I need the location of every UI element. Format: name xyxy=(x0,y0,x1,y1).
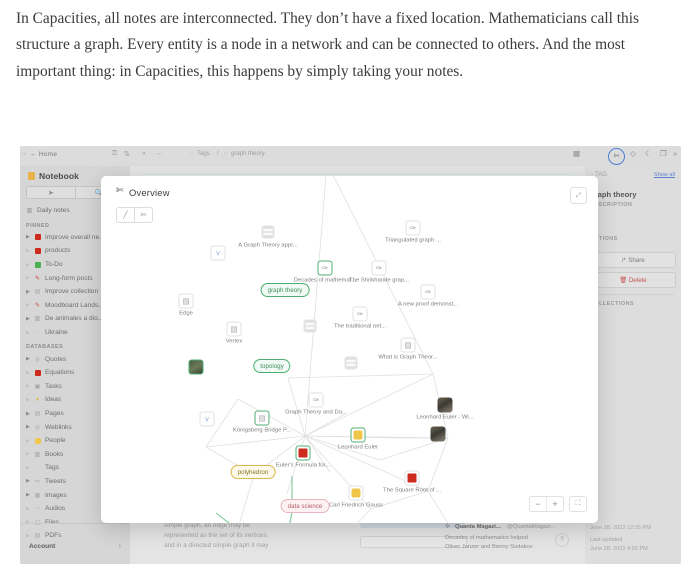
panel-updated-date: June 28, 2022 4:55 PM xyxy=(590,545,648,554)
sort-icon[interactable]: ⇅ xyxy=(124,150,130,158)
image-icon: ▦ xyxy=(34,492,41,499)
expand-icon[interactable]: ⤢ xyxy=(570,187,587,204)
chevron-right-icon[interactable]: ▶ xyxy=(26,383,34,389)
filter-node-box: ⋎ xyxy=(200,412,215,427)
tweet-node-box: ✑ xyxy=(309,393,324,408)
account-label: Account xyxy=(29,543,55,550)
chevron-right-icon[interactable]: ▶ xyxy=(26,370,34,376)
graph-node[interactable] xyxy=(345,357,358,370)
zoom-out-button[interactable]: − xyxy=(530,497,546,511)
grid-node-box xyxy=(345,357,358,370)
graph-canvas[interactable]: A Graph Theory appr...✑Triangulated grap… xyxy=(101,176,598,523)
tweet-line-1: Decades of mathematics helped xyxy=(445,535,528,541)
graph-node-label: Leonhard Euler xyxy=(338,445,378,451)
sidebar-item-label: Improve collection xyxy=(45,288,98,295)
sidebar-item-label: Ideas xyxy=(45,396,61,403)
tag-icon: ◌ xyxy=(34,329,41,336)
person-icon xyxy=(352,489,361,498)
chevron-right-icon[interactable]: ▶ xyxy=(26,262,34,268)
graph-edges xyxy=(101,176,598,523)
graph-node-label: The traditional net... xyxy=(334,324,386,330)
graph-node-label: The Square Root of ... xyxy=(383,488,441,494)
app-screenshot: ← Home ⚿ ⇅ « ← → ◌ Tags / ◌ graph theory… xyxy=(20,146,681,564)
chevron-right-icon[interactable]: ▶ xyxy=(26,248,34,254)
grid-node-box xyxy=(304,320,317,333)
panel-divider xyxy=(590,294,674,295)
graph-node[interactable]: ✑Graph Theory and Da... xyxy=(309,393,324,408)
page-node-box: ▤ xyxy=(227,322,242,337)
graph-node-label: Graph Theory and Da... xyxy=(285,410,347,416)
account-button[interactable]: Account › xyxy=(20,538,130,554)
graph-tag-node[interactable]: topology xyxy=(253,359,290,373)
tag-icon: ◌ xyxy=(34,464,41,471)
book-node-box xyxy=(405,471,420,486)
graph-node[interactable]: Leonhard Euler xyxy=(351,428,366,443)
graph-node-label: Königsberg Bridge P... xyxy=(233,428,291,434)
breadcrumb-tags-label[interactable]: Tags xyxy=(197,151,210,157)
person-icon xyxy=(354,431,363,440)
graph-node[interactable]: ⋎ xyxy=(200,412,215,427)
person-node-box xyxy=(349,486,364,501)
page-icon: ▤ xyxy=(34,288,41,295)
graph-overview-icon: ✄ xyxy=(116,185,124,196)
back-arrow-icon[interactable]: ← xyxy=(156,150,163,157)
chevron-right-icon[interactable]: ▶ xyxy=(26,330,34,336)
sidebar-item-label: Quotes xyxy=(45,356,66,363)
modal-title: Overview xyxy=(129,187,170,198)
chevron-right-filled-icon[interactable]: ▶ xyxy=(26,356,34,362)
notebook-icon xyxy=(28,172,35,180)
sidebar-item-label: Books xyxy=(45,451,63,458)
pin-red-icon: ✎ xyxy=(34,275,41,282)
graph-node[interactable]: ▤Königsberg Bridge P... xyxy=(255,411,270,426)
globe-icon: ◎ xyxy=(34,424,41,431)
panel-updated-label: Last updated xyxy=(590,536,622,545)
breadcrumb-separator: / xyxy=(217,151,219,157)
sidebar-item-label: Equations xyxy=(45,369,74,376)
grid-icon xyxy=(305,321,316,332)
sidebar-item-label: Weblinks xyxy=(45,424,72,431)
app-topbar: ← Home ⚿ ⇅ « ← → ◌ Tags / ◌ graph theory… xyxy=(20,146,681,166)
document-line-3: and in a directed simple graph it may xyxy=(164,541,354,551)
graph-node[interactable]: ▤Vertex xyxy=(227,322,242,337)
graph-icon[interactable]: ✄ xyxy=(135,207,153,223)
graph-overview-icon[interactable]: ✄ xyxy=(608,148,625,165)
calendar-icon[interactable]: ▦ xyxy=(573,149,580,158)
show-all-link[interactable]: Show all xyxy=(654,172,675,178)
chevron-right-filled-icon[interactable]: ▶ xyxy=(26,424,34,430)
copy-icon[interactable]: ❐ xyxy=(660,149,667,158)
overview-modal: A Graph Theory appr...✑Triangulated grap… xyxy=(101,176,598,523)
sidebar-item-label: People xyxy=(45,437,66,444)
graph-node-label: Triangulated graph ... xyxy=(385,238,441,244)
sidebar-item-label: Improve overall ne... xyxy=(45,234,105,241)
breadcrumb-tags[interactable]: ◌ xyxy=(190,151,194,157)
sidebar-item-label: Tasks xyxy=(45,383,62,390)
bulb-icon: ♦ xyxy=(34,396,41,403)
book-red-icon xyxy=(34,247,41,254)
graph-node[interactable]: The Square Root of ... xyxy=(405,471,420,486)
book-icon xyxy=(299,449,308,458)
graph-node[interactable] xyxy=(189,360,204,375)
zoom-in-button[interactable]: + xyxy=(546,497,563,511)
graph-node[interactable]: A Graph Theory appr... xyxy=(262,226,275,239)
graph-node-label: Edge xyxy=(179,311,193,317)
tag-icon[interactable]: ◇ xyxy=(630,149,636,158)
books-icon: ▥ xyxy=(34,315,41,322)
person-yellow-icon xyxy=(34,437,41,444)
sidebar-item-label: To-Do xyxy=(45,261,63,268)
chevron-right-filled-icon[interactable]: ▶ xyxy=(26,492,34,498)
article-paragraph: In Capacities, all notes are interconnec… xyxy=(16,6,684,85)
share-button[interactable]: ↱ Share xyxy=(590,252,676,268)
right-panel: ◌ TAG Show all graph theory DESCRIPTION … xyxy=(585,166,681,564)
tweet-node-box: ✑ xyxy=(318,261,333,276)
pin-red-icon: ✎ xyxy=(34,302,41,309)
grid-icon xyxy=(263,227,274,238)
graph-node[interactable]: ⋎ xyxy=(211,246,226,261)
sidebar-item-label: Ukraine xyxy=(45,329,68,336)
graph-tag-node[interactable]: polyhedron xyxy=(231,465,276,479)
chevron-right-filled-icon[interactable]: ▶ xyxy=(26,316,34,322)
graph-node-label: Carl Friedrich Gauss xyxy=(329,503,383,509)
image-node-thumb xyxy=(431,427,446,442)
chevron-right-icon[interactable]: ▶ xyxy=(26,438,34,444)
panel-created-date: June 28, 2022 12:35 PM xyxy=(590,524,651,533)
person-node-box xyxy=(351,428,366,443)
sidebar-divider xyxy=(20,523,130,524)
sidebar-item-label: De animales a dio... xyxy=(45,315,103,322)
chevron-right-filled-icon[interactable]: ▶ xyxy=(26,478,34,484)
delete-button[interactable]: 🗑 Delete xyxy=(590,272,676,288)
help-badge[interactable]: ? xyxy=(555,533,569,547)
chevron-right-icon[interactable]: ▶ xyxy=(26,451,34,457)
chevron-right-filled-icon[interactable]: ▶ xyxy=(26,411,34,417)
tweet-handle: @QuantaMagazi... xyxy=(507,524,555,530)
chevron-right-icon[interactable]: ▶ xyxy=(26,506,34,512)
graph-node[interactable]: ✑Triangulated graph ... xyxy=(406,221,421,236)
sidebar-item-label: Pages xyxy=(45,410,64,417)
tweet-line-2: Oliver Janzer and Benny Sudakov xyxy=(445,544,533,550)
sidebar-item-label: Images xyxy=(45,492,67,499)
image-node-thumb xyxy=(189,360,204,375)
chevron-right-icon[interactable]: ▶ xyxy=(26,275,34,281)
tweet-avatar-icon: ✲ xyxy=(445,524,450,530)
graph-node-label: A new proof demonst... xyxy=(398,302,458,308)
tweet-node-box: ✑ xyxy=(372,261,387,276)
graph-node[interactable]: ✑The traditional net... xyxy=(353,307,368,322)
collapse-icon[interactable]: « xyxy=(142,150,146,157)
chevron-right-icon[interactable]: ▶ xyxy=(26,397,34,403)
graph-tag-node[interactable]: data science xyxy=(281,499,330,513)
tweet-author: Quanta Magazi... xyxy=(455,524,501,530)
document-line-2: represented as the set of its vertices, xyxy=(164,531,354,541)
graph-node[interactable]: ✑Decades of mathemat... xyxy=(318,261,333,276)
tweet-node-box: ✑ xyxy=(421,285,436,300)
graph-node[interactable]: ▤What is Graph Theor... xyxy=(401,338,416,353)
tweet-node-box: ✑ xyxy=(353,307,368,322)
tweet-node-box: ✑ xyxy=(406,221,421,236)
zoom-controls: − + ⛶ xyxy=(529,496,587,512)
books-icon: ▥ xyxy=(34,451,41,458)
graph-tag-node[interactable]: graph theory xyxy=(261,283,310,297)
tweet-icon: ✑ xyxy=(34,478,41,485)
forward-arrow-icon[interactable]: → xyxy=(20,150,27,157)
graph-node-label: What is Graph Theor... xyxy=(378,355,437,361)
page-node-box: ▤ xyxy=(179,294,194,309)
chevron-right-icon[interactable]: ▶ xyxy=(26,465,34,471)
audio-icon: ⋯ xyxy=(34,505,41,512)
page-node-box: ▤ xyxy=(255,411,270,426)
image-node-thumb xyxy=(438,398,453,413)
modal-toolbar: ╱ ✄ xyxy=(116,207,153,223)
page-icon: ▤ xyxy=(34,410,41,417)
graph-node-label: A Graph Theory appr... xyxy=(238,243,298,249)
home-button[interactable]: ← Home xyxy=(30,151,57,158)
key-icon[interactable]: ⚿ xyxy=(112,150,117,158)
sidebar-item-label: products xyxy=(45,247,70,254)
graph-node[interactable] xyxy=(304,320,317,333)
graph-node[interactable]: Euler's Formula for... xyxy=(296,446,311,461)
chevron-right-icon: › xyxy=(119,543,121,550)
notebook-title[interactable]: Notebook xyxy=(39,171,79,181)
checkbox-green-icon xyxy=(34,261,41,268)
sidebar-item-label: Long-form posts xyxy=(45,275,93,282)
grid-icon xyxy=(346,358,357,369)
chevron-right-filled-icon[interactable]: ▶ xyxy=(26,289,34,295)
send-icon[interactable]: ➤ xyxy=(26,186,76,199)
filter-node-box: ⋎ xyxy=(211,246,226,261)
fit-screen-icon[interactable]: ⛶ xyxy=(569,496,587,512)
breadcrumb-current[interactable]: graph theory xyxy=(231,151,265,157)
tweet-card[interactable]: ✲ Quanta Magazi... @QuantaMagazi... Deca… xyxy=(445,524,580,562)
breadcrumb-current-icon: ◌ xyxy=(224,151,228,157)
sidebar-item-label: Daily notes xyxy=(37,207,70,214)
edit-line-icon[interactable]: ╱ xyxy=(116,207,135,223)
graph-node[interactable]: ✑The Shrikhande grap... xyxy=(372,261,387,276)
moon-icon[interactable]: ☾ xyxy=(645,149,652,158)
daily-notes-icon: ▥ xyxy=(26,207,33,214)
graph-node-label: Euler's Formula for... xyxy=(276,463,330,469)
sidebar-item-label: Tweets xyxy=(45,478,66,485)
book-red-icon xyxy=(34,369,41,376)
book-node-box xyxy=(296,446,311,461)
graph-node-label: Leonhard Euler - Wi... xyxy=(416,415,473,421)
grid-node-box xyxy=(262,226,275,239)
chevron-right-icon[interactable]: ▶ xyxy=(26,302,34,308)
checkbox-icon: ▣ xyxy=(34,383,41,390)
book-icon xyxy=(408,474,417,483)
sidebar-item-label: Moodboard Lands... xyxy=(45,302,104,309)
quote-icon: ◍ xyxy=(34,356,41,363)
chevron-right-filled-icon[interactable]: ▶ xyxy=(26,234,34,240)
graph-node[interactable]: ✑A new proof demonst... xyxy=(421,285,436,300)
sidebar-item-label: Tags xyxy=(45,464,59,471)
graph-node[interactable]: Carl Friedrich Gauss xyxy=(349,486,364,501)
page-node-box: ▤ xyxy=(401,338,416,353)
graph-node[interactable]: Leonhard Euler - Wi... xyxy=(438,398,453,413)
graph-node-label: The Shrikhande grap... xyxy=(349,278,409,284)
more-icon[interactable]: » xyxy=(673,149,677,158)
sidebar-item-label: Audios xyxy=(45,505,65,512)
book-red-icon xyxy=(34,234,41,241)
graph-node[interactable] xyxy=(431,427,446,442)
graph-node-label: Vertex xyxy=(226,339,243,345)
graph-node[interactable]: ▤Edge xyxy=(179,294,194,309)
